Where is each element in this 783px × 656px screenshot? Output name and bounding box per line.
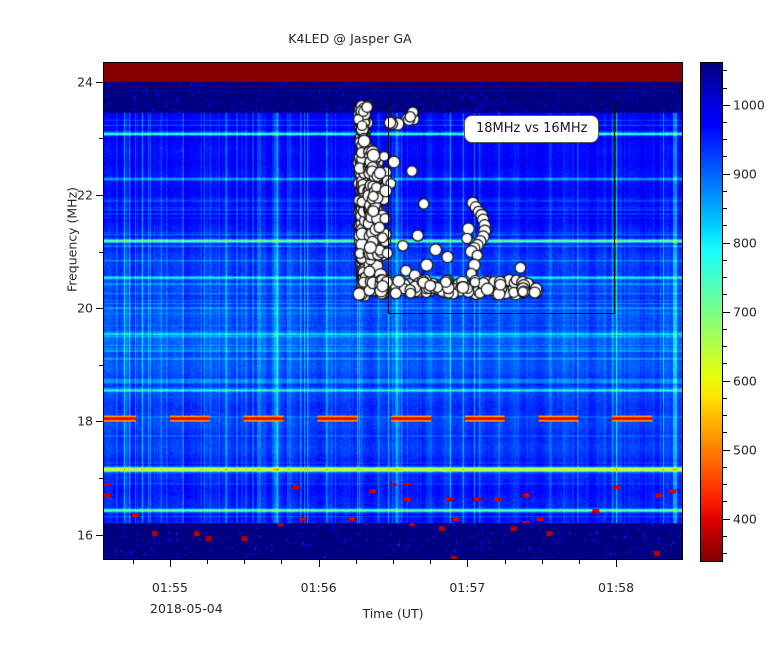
x-tick-minor <box>542 560 543 564</box>
colorbar-tick-minor <box>723 363 727 364</box>
x-tick-minor <box>133 560 134 564</box>
colorbar-tick-label: 900 <box>733 166 757 181</box>
x-tick-label: 01:55 <box>135 580 205 595</box>
colorbar-tick-minor <box>723 432 727 433</box>
chart-title: K4LED @ Jasper GA <box>0 31 700 46</box>
y-axis-label: Frequency (MHz) <box>65 160 80 320</box>
colorbar-tick-minor <box>723 501 727 502</box>
colorbar-tick-minor <box>723 260 727 261</box>
colorbar-tick-minor <box>723 88 727 89</box>
y-tick-major <box>96 195 103 196</box>
y-tick-minor <box>99 365 103 366</box>
colorbar-tick-minor <box>723 536 727 537</box>
y-tick-major <box>96 308 103 309</box>
x-tick-minor <box>356 560 357 564</box>
y-tick-label: 18 <box>33 414 93 429</box>
colorbar-tick-label: 500 <box>733 442 757 457</box>
colorbar[interactable] <box>700 62 723 562</box>
colorbar-tick-minor <box>723 553 727 554</box>
colorbar-tick-minor <box>723 70 727 71</box>
colorbar-tick-minor <box>723 191 727 192</box>
y-tick-major <box>96 535 103 536</box>
colorbar-tick-minor <box>723 208 727 209</box>
x-tick-minor <box>430 560 431 564</box>
colorbar-tick-minor <box>723 467 727 468</box>
colorbar-tick-minor <box>723 225 727 226</box>
y-tick-minor <box>99 478 103 479</box>
colorbar-tick-minor <box>723 484 727 485</box>
x-tick-minor <box>505 560 506 564</box>
colorbar-tick-minor <box>723 156 727 157</box>
figure-canvas: K4LED @ Jasper GA Frequency (MHz) Time (… <box>0 0 783 656</box>
x-tick-minor <box>207 560 208 564</box>
colorbar-tick-label: 1000 <box>733 97 765 112</box>
x-tick-label: 01:57 <box>432 580 502 595</box>
colorbar-gradient <box>701 63 722 561</box>
colorbar-tick-minor <box>723 122 727 123</box>
y-tick-label: 16 <box>33 527 93 542</box>
colorbar-tick-label: 700 <box>733 304 757 319</box>
x-axis-date-label: 2018-05-04 <box>150 601 223 616</box>
colorbar-tick-label: 400 <box>733 511 757 526</box>
x-tick-major <box>467 560 468 567</box>
colorbar-tick-major <box>723 174 730 175</box>
colorbar-tick-minor <box>723 398 727 399</box>
colorbar-tick-minor <box>723 277 727 278</box>
y-tick-label: 22 <box>33 187 93 202</box>
y-tick-label: 20 <box>33 301 93 316</box>
x-tick-major <box>616 560 617 567</box>
colorbar-tick-minor <box>723 139 727 140</box>
x-tick-major <box>170 560 171 567</box>
colorbar-tick-minor <box>723 346 727 347</box>
x-tick-label: 01:58 <box>581 580 651 595</box>
annotation-label: 18MHz vs 16MHz <box>464 115 599 143</box>
y-tick-minor <box>99 138 103 139</box>
y-tick-major <box>96 421 103 422</box>
y-tick-minor <box>99 252 103 253</box>
colorbar-tick-minor <box>723 415 727 416</box>
x-tick-minor <box>393 560 394 564</box>
colorbar-tick-major <box>723 381 730 382</box>
colorbar-tick-major <box>723 450 730 451</box>
x-tick-label: 01:56 <box>284 580 354 595</box>
x-tick-minor <box>579 560 580 564</box>
colorbar-tick-label: 600 <box>733 373 757 388</box>
colorbar-tick-minor <box>723 294 727 295</box>
y-tick-major <box>96 82 103 83</box>
colorbar-tick-major <box>723 519 730 520</box>
colorbar-tick-minor <box>723 329 727 330</box>
colorbar-tick-major <box>723 312 730 313</box>
colorbar-tick-major <box>723 243 730 244</box>
x-tick-major <box>319 560 320 567</box>
colorbar-tick-label: 800 <box>733 235 757 250</box>
colorbar-tick-major <box>723 105 730 106</box>
x-tick-minor <box>281 560 282 564</box>
x-tick-minor <box>244 560 245 564</box>
y-tick-label: 24 <box>33 74 93 89</box>
